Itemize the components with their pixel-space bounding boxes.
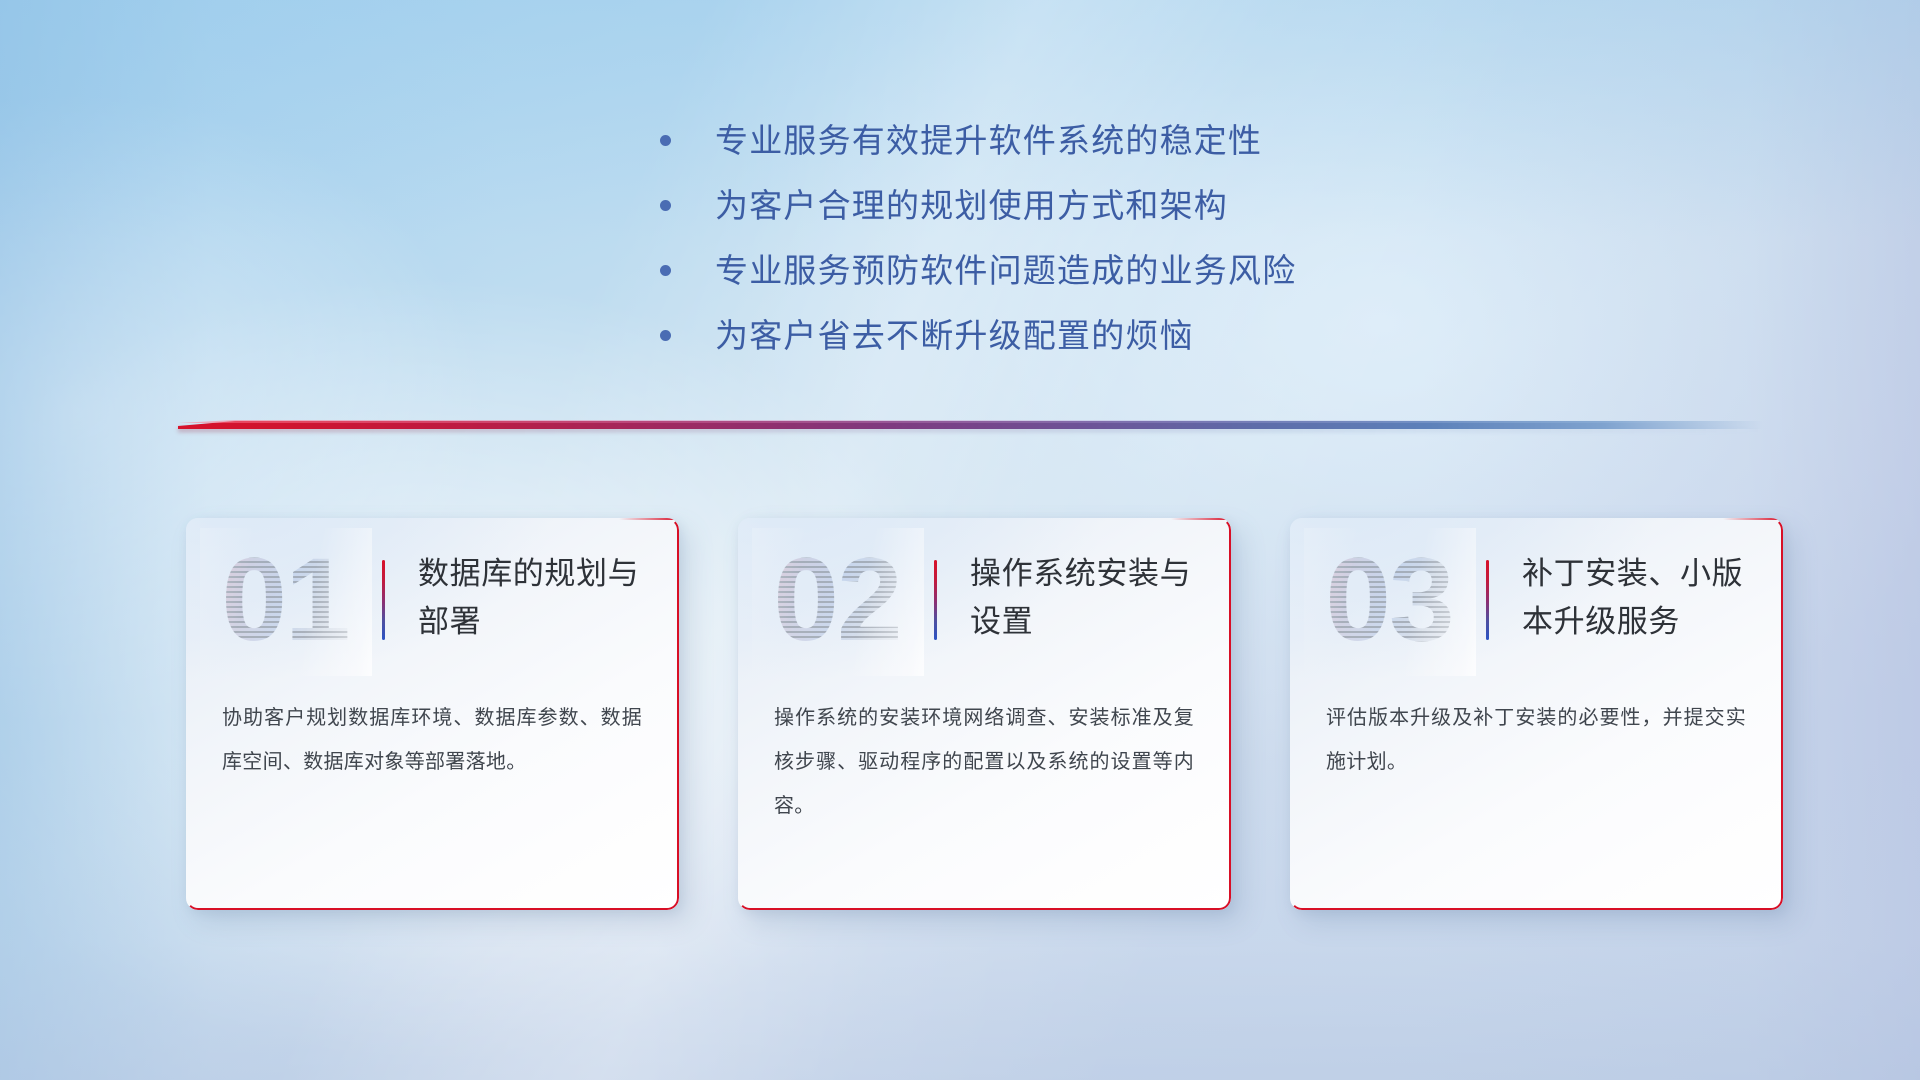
card-number-watermark: 01: [210, 536, 360, 664]
bullet-item: 专业服务有效提升软件系统的稳定性: [660, 108, 1296, 172]
bullet-item-label: 为客户省去不断升级配置的烦恼: [715, 319, 1194, 352]
card-header: 03 补丁安装、小版本升级服务: [1290, 518, 1783, 686]
card-number-watermark: 03: [1314, 536, 1464, 664]
service-card[interactable]: 01 数据库的规划与部署 协助客户规划数据库环境、数据库参数、数据库空间、数据库…: [186, 518, 679, 910]
bullet-dot-icon: [660, 265, 671, 276]
card-title: 补丁安装、小版本升级服务: [1522, 550, 1772, 646]
card-title-accent-bar: [1486, 560, 1489, 640]
card-title-accent-bar: [934, 560, 937, 640]
bullet-item-label: 为客户合理的规划使用方式和架构: [715, 189, 1228, 222]
bullet-dot-icon: [660, 200, 671, 211]
card-header: 02 操作系统安装与设置: [738, 518, 1231, 686]
bullet-item: 为客户省去不断升级配置的烦恼: [660, 303, 1296, 367]
card-description: 评估版本升级及补丁安装的必要性，并提交实施计划。: [1326, 696, 1746, 784]
bullet-item-label: 专业服务有效提升软件系统的稳定性: [715, 124, 1262, 157]
card-title-accent-bar: [382, 560, 385, 640]
service-card[interactable]: 02 操作系统安装与设置 操作系统的安装环境网络调查、安装标准及复核步骤、驱动程…: [738, 518, 1231, 910]
benefits-bullet-list: 专业服务有效提升软件系统的稳定性 为客户合理的规划使用方式和架构 专业服务预防软…: [660, 108, 1296, 368]
service-card[interactable]: 03 补丁安装、小版本升级服务 评估版本升级及补丁安装的必要性，并提交实施计划。: [1290, 518, 1783, 910]
bullet-item-label: 专业服务预防软件问题造成的业务风险: [715, 254, 1296, 287]
bullet-dot-icon: [660, 330, 671, 341]
bullet-dot-icon: [660, 135, 671, 146]
card-description: 操作系统的安装环境网络调查、安装标准及复核步骤、驱动程序的配置以及系统的设置等内…: [774, 696, 1194, 828]
divider-highlight: [178, 420, 1763, 423]
card-title: 数据库的规划与部署: [418, 550, 668, 646]
card-number-watermark: 02: [762, 536, 912, 664]
card-header: 01 数据库的规划与部署: [186, 518, 679, 686]
bullet-item: 为客户合理的规划使用方式和架构: [660, 173, 1296, 237]
section-divider: [178, 418, 1763, 432]
card-title: 操作系统安装与设置: [970, 550, 1220, 646]
card-description: 协助客户规划数据库环境、数据库参数、数据库空间、数据库对象等部署落地。: [222, 696, 642, 784]
bullet-item: 专业服务预防软件问题造成的业务风险: [660, 238, 1296, 302]
